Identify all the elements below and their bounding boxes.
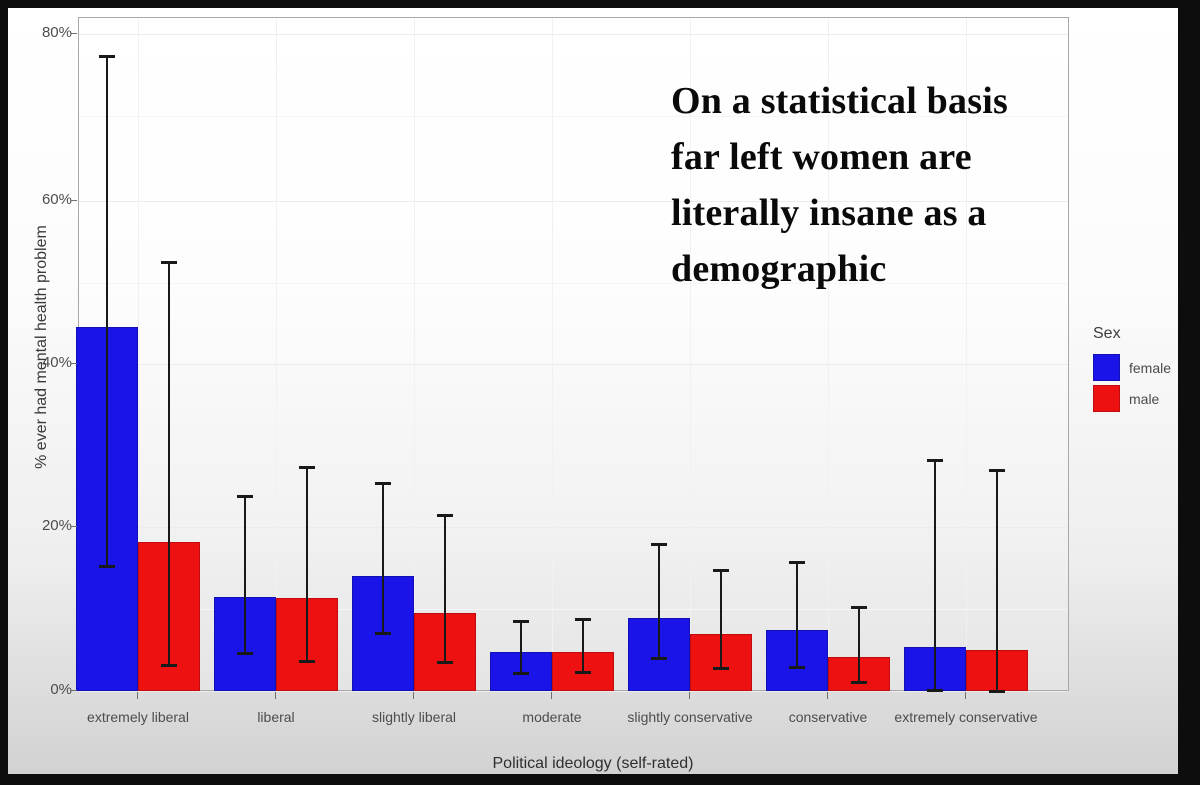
legend-item-male[interactable]: male: [1093, 383, 1178, 414]
legend-label-male: male: [1129, 391, 1159, 407]
errorbar-line-female-6: [934, 459, 936, 690]
errorbar-cap-upper-male-6: [989, 469, 1005, 472]
gridline-y-40: [79, 364, 1068, 365]
errorbar-line-male-1: [306, 466, 308, 660]
gridline-x-3: [414, 18, 415, 690]
errorbar-cap-lower-male-1: [299, 660, 315, 663]
y-tick-80: [71, 33, 77, 34]
errorbar-line-female-2: [382, 482, 384, 632]
errorbar-cap-upper-male-0: [161, 261, 177, 264]
errorbar-cap-upper-female-2: [375, 482, 391, 485]
errorbar-line-male-3: [582, 618, 584, 671]
errorbar-cap-upper-female-1: [237, 495, 253, 498]
plot-panel: On a statistical basis far left women ar…: [78, 17, 1069, 691]
x-tick-1: [137, 692, 138, 699]
y-tick-60: [71, 200, 77, 201]
gridline-y-30: [79, 446, 1068, 447]
errorbar-cap-lower-female-6: [927, 689, 943, 692]
errorbar-cap-lower-female-2: [375, 632, 391, 635]
image-frame: On a statistical basis far left women ar…: [0, 0, 1200, 785]
errorbar-cap-upper-female-6: [927, 459, 943, 462]
y-tick-20: [71, 526, 77, 527]
errorbar-line-male-0: [168, 261, 170, 663]
x-axis-title: Political ideology (self-rated): [8, 755, 1178, 773]
errorbar-cap-upper-male-2: [437, 514, 453, 517]
y-tick-label-0: 0%: [12, 681, 72, 698]
x-tick-label-liberal: liberal: [196, 709, 356, 726]
errorbar-line-female-4: [658, 543, 660, 657]
errorbar-cap-lower-male-5: [851, 681, 867, 684]
caption-line-3: literally insane as a: [671, 185, 1101, 241]
y-tick-0: [71, 690, 77, 691]
errorbar-cap-upper-male-1: [299, 466, 315, 469]
errorbar-line-female-0: [106, 55, 108, 564]
errorbar-line-female-3: [520, 620, 522, 672]
y-tick-40: [71, 363, 77, 364]
errorbar-cap-upper-male-4: [713, 569, 729, 572]
errorbar-cap-upper-male-5: [851, 606, 867, 609]
errorbar-cap-lower-female-0: [99, 565, 115, 568]
errorbar-cap-upper-female-4: [651, 543, 667, 546]
caption-line-2: far left women are: [671, 129, 1101, 185]
errorbar-line-male-6: [996, 469, 998, 690]
errorbar-cap-upper-female-5: [789, 561, 805, 564]
errorbar-cap-upper-female-0: [99, 55, 115, 58]
legend: Sex female male: [1093, 325, 1178, 414]
x-tick-5: [689, 692, 690, 699]
errorbar-cap-lower-female-4: [651, 657, 667, 660]
gridline-x-2: [276, 18, 277, 690]
legend-swatch-male: [1093, 385, 1120, 412]
errorbar-cap-lower-male-4: [713, 667, 729, 670]
chart-image: On a statistical basis far left women ar…: [8, 8, 1178, 774]
x-tick-2: [275, 692, 276, 699]
errorbar-line-female-1: [244, 495, 246, 652]
x-tick-3: [413, 692, 414, 699]
legend-label-female: female: [1129, 360, 1171, 376]
gridline-y-20: [79, 527, 1068, 528]
caption-line-1: On a statistical basis: [671, 73, 1101, 129]
errorbar-cap-lower-male-6: [989, 690, 1005, 693]
errorbar-line-female-5: [796, 561, 798, 666]
y-axis-title: % ever had mental health problem: [33, 37, 51, 657]
errorbar-cap-lower-female-3: [513, 672, 529, 675]
errorbar-cap-upper-male-3: [575, 618, 591, 621]
x-tick-label-extremely-liberal: extremely liberal: [58, 709, 218, 726]
x-tick-label-slightly-conservative: slightly conservative: [610, 709, 770, 726]
errorbar-cap-lower-male-0: [161, 664, 177, 667]
gridline-y-80: [79, 34, 1068, 35]
errorbar-cap-lower-male-3: [575, 671, 591, 674]
x-tick-label-conservative: conservative: [748, 709, 908, 726]
errorbar-line-male-4: [720, 569, 722, 667]
errorbar-line-male-5: [858, 606, 860, 682]
caption-overlay: On a statistical basis far left women ar…: [671, 73, 1101, 297]
x-tick-7: [965, 692, 966, 699]
x-tick-label-moderate: moderate: [472, 709, 632, 726]
x-tick-6: [827, 692, 828, 699]
legend-title: Sex: [1093, 325, 1178, 343]
errorbar-cap-upper-female-3: [513, 620, 529, 623]
errorbar-cap-lower-female-5: [789, 666, 805, 669]
gridline-y-0: [79, 691, 1068, 692]
caption-line-4: demographic: [671, 241, 1101, 297]
gridline-x-4: [552, 18, 553, 690]
x-tick-4: [551, 692, 552, 699]
errorbar-line-male-2: [444, 514, 446, 661]
errorbar-cap-lower-male-2: [437, 661, 453, 664]
legend-item-female[interactable]: female: [1093, 352, 1178, 383]
legend-swatch-female: [1093, 354, 1120, 381]
x-tick-label-extremely-conservative: extremely conservative: [886, 709, 1046, 726]
errorbar-cap-lower-female-1: [237, 652, 253, 655]
x-tick-label-slightly-liberal: slightly liberal: [334, 709, 494, 726]
